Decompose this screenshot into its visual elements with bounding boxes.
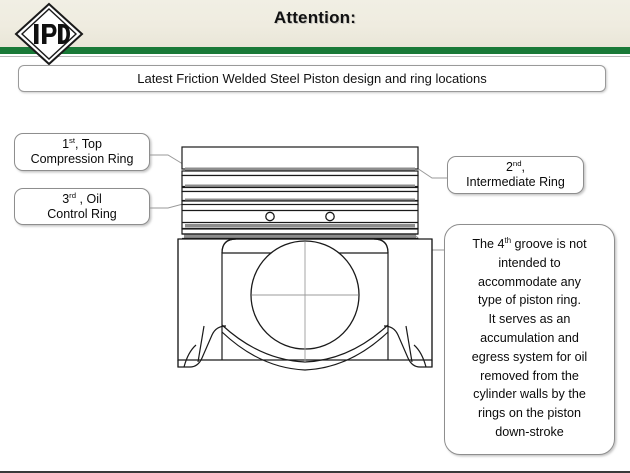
callout-oil-control-ring[interactable]: 3rd , Oil Control Ring <box>14 188 150 225</box>
piston-cross-section-diagram <box>160 130 450 375</box>
callout-line: 1st, Top <box>31 137 134 152</box>
ipd-diamond-logo-icon <box>14 2 84 66</box>
oil-drain-hole-right <box>326 212 334 220</box>
callout-line: intended to <box>472 254 587 273</box>
callout-line: Intermediate Ring <box>466 175 565 190</box>
callout-line: accumulation and <box>472 329 587 348</box>
subtitle-banner: Latest Friction Welded Steel Piston desi… <box>18 65 606 92</box>
callout-fourth-groove-note[interactable]: The 4th groove is not intended to accomm… <box>444 224 615 455</box>
callout-line: The 4th groove is not <box>472 235 587 254</box>
callout-line: removed from the <box>472 367 587 386</box>
header-grey-divider <box>0 56 630 57</box>
callout-line: cylinder walls by the <box>472 385 587 404</box>
page-title: Attention: <box>0 8 630 28</box>
callout-line: Control Ring <box>47 207 116 222</box>
callout-line: type of piston ring. <box>472 291 587 310</box>
callout-line: rings on the piston <box>472 404 587 423</box>
callout-intermediate-ring[interactable]: 2nd, Intermediate Ring <box>447 156 584 194</box>
callout-line: down-stroke <box>472 423 587 442</box>
subtitle-text: Latest Friction Welded Steel Piston desi… <box>137 71 487 86</box>
slide-canvas: Attention: Latest Friction Welded Steel … <box>0 0 630 473</box>
callout-line: It serves as an <box>472 310 587 329</box>
callout-line: 2nd, <box>466 160 565 175</box>
oil-drain-hole-left <box>266 212 274 220</box>
callout-top-compression-ring[interactable]: 1st, Top Compression Ring <box>14 133 150 171</box>
callout-line: Compression Ring <box>31 152 134 167</box>
callout-line: 3rd , Oil <box>47 192 116 207</box>
header-green-accent-bar <box>0 47 630 54</box>
ordinal-superscript: nd <box>513 159 522 168</box>
callout-line: egress system for oil <box>472 348 587 367</box>
callout-line: accommodate any <box>472 273 587 292</box>
